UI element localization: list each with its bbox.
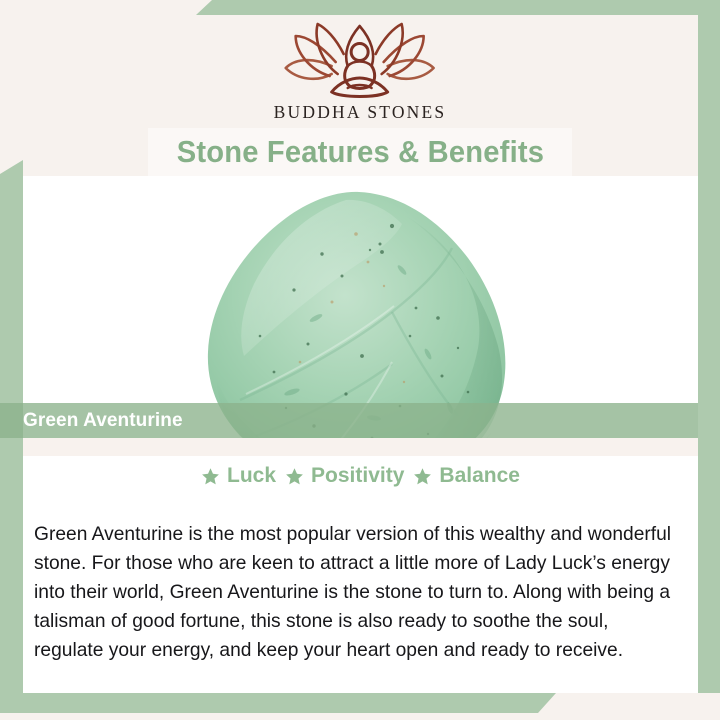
keyword-item: Balance bbox=[413, 464, 520, 488]
keyword-label: Luck bbox=[227, 464, 276, 488]
brand-logo: BUDDHA STONES bbox=[274, 22, 447, 123]
decor-bar-bottom bbox=[0, 693, 556, 713]
green-aventurine-stone-image bbox=[196, 186, 526, 438]
star-icon bbox=[413, 467, 432, 486]
panel-top-tint bbox=[23, 438, 698, 456]
description-panel: Luck Positivity Balance Green Aventurine… bbox=[23, 438, 698, 693]
keyword-label: Positivity bbox=[311, 464, 404, 488]
keyword-label: Balance bbox=[439, 464, 520, 488]
stone-description: Green Aventurine is the most popular ver… bbox=[34, 520, 679, 665]
star-icon bbox=[285, 467, 304, 486]
brand-name: BUDDHA STONES bbox=[274, 102, 447, 123]
stone-name-label: Green Aventurine bbox=[23, 410, 183, 432]
stone-name-bar: Green Aventurine bbox=[0, 403, 698, 438]
keyword-item: Positivity bbox=[285, 464, 404, 488]
star-icon bbox=[201, 467, 220, 486]
lotus-meditation-figure-icon bbox=[274, 22, 446, 100]
stone-photo bbox=[23, 176, 698, 438]
keyword-item: Luck bbox=[201, 464, 276, 488]
page-title: Stone Features & Benefits bbox=[176, 134, 543, 170]
title-banner: Stone Features & Benefits bbox=[148, 128, 572, 176]
poster-root: BUDDHA STONES Stone Features & Benefits bbox=[0, 0, 720, 720]
keyword-row: Luck Positivity Balance bbox=[23, 464, 698, 488]
